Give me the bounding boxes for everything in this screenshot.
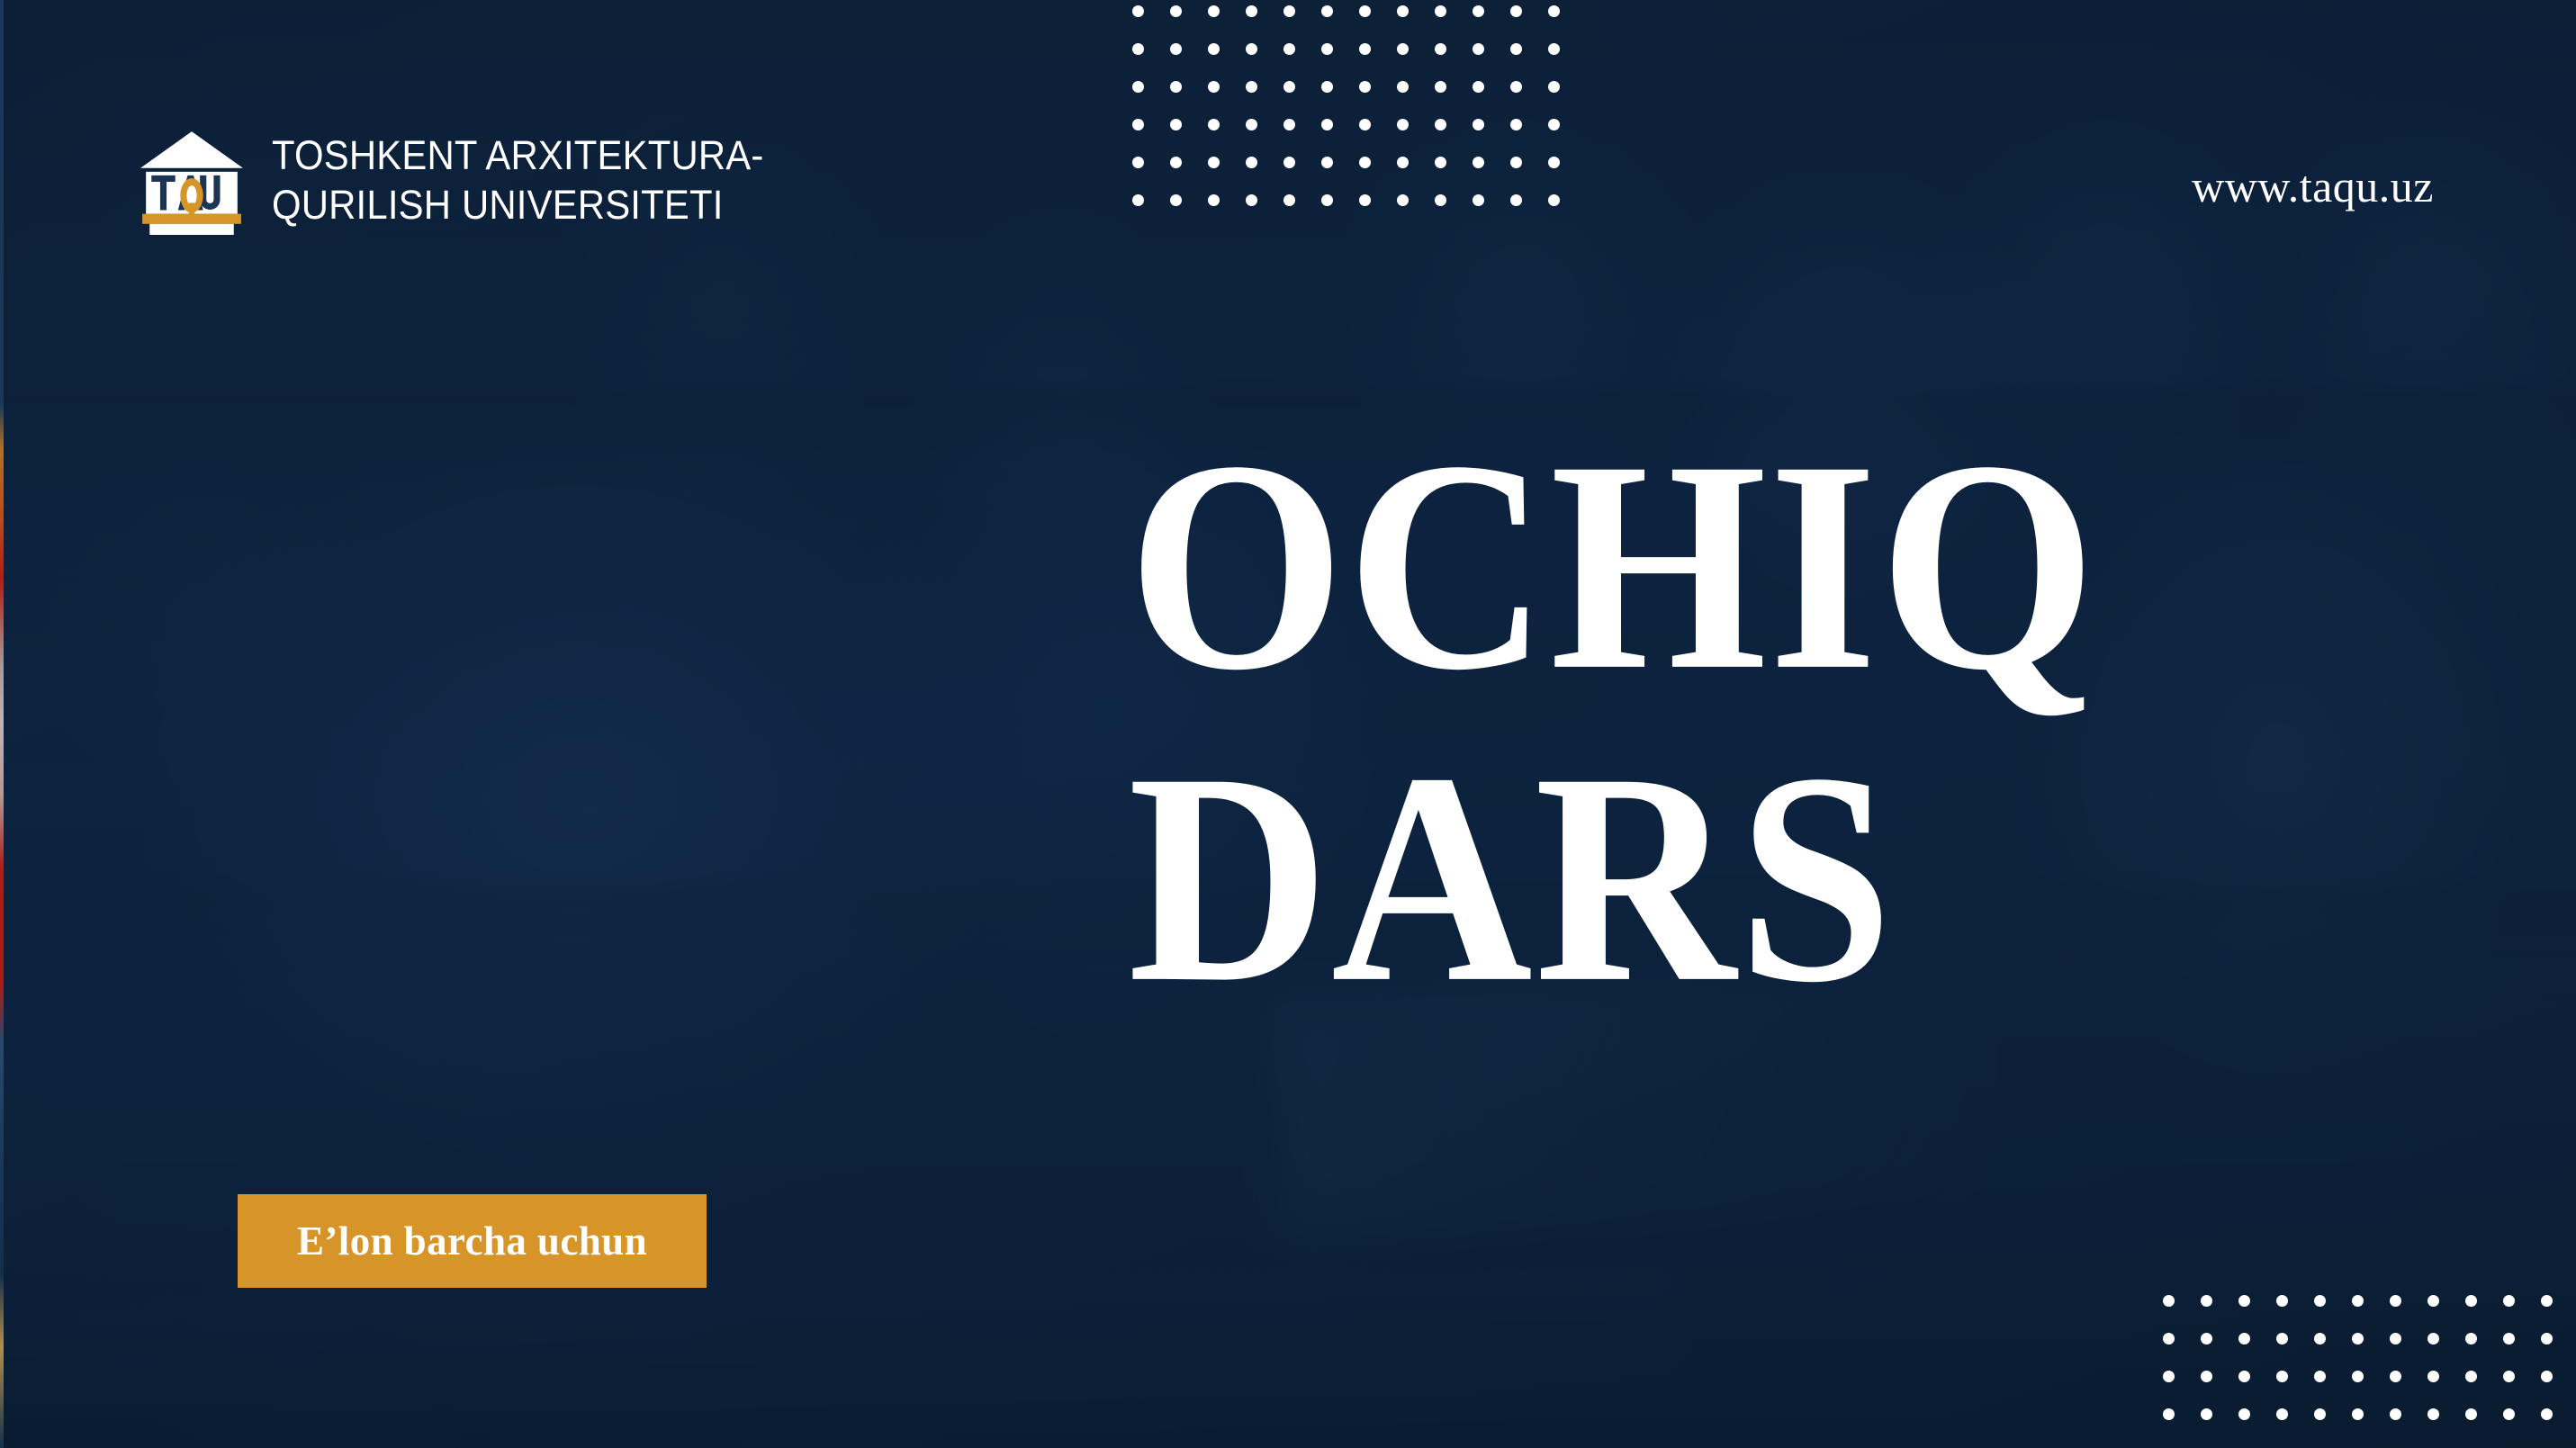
- decorative-dot: [2465, 1408, 2477, 1420]
- decorative-dot: [1473, 5, 1484, 17]
- decorative-dot: [1208, 81, 1220, 93]
- decorative-dot: [2352, 1371, 2364, 1382]
- decorative-dot: [1132, 5, 1144, 17]
- decorative-dot: [1435, 43, 1446, 55]
- decorative-dot: [2541, 1333, 2553, 1345]
- announcement-button[interactable]: E’lon barcha uchun: [238, 1194, 707, 1288]
- decorative-dot: [1246, 43, 1257, 55]
- title-line-1: OCHIQ: [1128, 425, 2098, 708]
- decorative-dot: [1208, 5, 1220, 17]
- decorative-dot: [1510, 5, 1522, 17]
- decorative-dot: [1321, 5, 1333, 17]
- decorative-dot: [1397, 81, 1409, 93]
- decorative-dot: [1510, 119, 1522, 130]
- decorative-dot: [2314, 1333, 2326, 1345]
- decorative-dot: [1208, 119, 1220, 130]
- decorative-dot: [2352, 1333, 2364, 1345]
- decorative-dot: [1359, 5, 1371, 17]
- decorative-dot: [1435, 5, 1446, 17]
- decorative-dot: [2541, 1295, 2553, 1307]
- decorative-dot: [1397, 194, 1409, 206]
- decorative-dot: [1473, 194, 1484, 206]
- decorative-dot: [1510, 43, 1522, 55]
- brand-name: TOSHKENT ARXITEKTURA- QURILISH UNIVERSIT…: [272, 131, 764, 230]
- decorative-dot: [2465, 1371, 2477, 1382]
- decorative-dot: [1510, 81, 1522, 93]
- decorative-dot: [2503, 1333, 2515, 1345]
- decorative-dot: [2163, 1408, 2175, 1420]
- decorative-dot: [1359, 119, 1371, 130]
- decorative-dot: [2201, 1333, 2212, 1345]
- decorative-dot: [1283, 81, 1295, 93]
- decorative-dot: [1435, 194, 1446, 206]
- decorative-dot: [1548, 157, 1560, 168]
- decorative-dot: [1132, 119, 1144, 130]
- decorative-dot: [1548, 81, 1560, 93]
- decorative-dot: [1397, 43, 1409, 55]
- website-url[interactable]: www.taqu.uz: [2192, 160, 2434, 212]
- decorative-dot: [2276, 1371, 2288, 1382]
- decorative-dot: [1435, 157, 1446, 168]
- decorative-dot: [2390, 1295, 2401, 1307]
- decorative-dot: [1132, 194, 1144, 206]
- decorative-dot: [2352, 1408, 2364, 1420]
- decorative-dot: [1208, 194, 1220, 206]
- announcement-button-label: E’lon barcha uchun: [297, 1218, 647, 1264]
- decorative-dot: [1359, 43, 1371, 55]
- decorative-dot: [1208, 43, 1220, 55]
- decorative-dot: [2238, 1295, 2250, 1307]
- decorative-dot: [1283, 194, 1295, 206]
- decorative-dot: [2503, 1371, 2515, 1382]
- decorative-dot: [1246, 81, 1257, 93]
- decorative-dot: [1473, 81, 1484, 93]
- decorative-dot: [2427, 1295, 2439, 1307]
- decorative-dot: [1397, 5, 1409, 17]
- decorative-dot: [1132, 81, 1144, 93]
- decorative-dot: [2465, 1295, 2477, 1307]
- decorative-dot: [2541, 1408, 2553, 1420]
- decorative-dot: [1170, 5, 1182, 17]
- decorative-dot: [1548, 43, 1560, 55]
- decorative-dot: [1359, 157, 1371, 168]
- decorative-dot: [1321, 157, 1333, 168]
- decorative-dot: [2276, 1408, 2288, 1420]
- decorative-dot: [1321, 119, 1333, 130]
- decorative-dot: [2314, 1408, 2326, 1420]
- decorative-dot: [1170, 81, 1182, 93]
- decorative-dot: [2390, 1371, 2401, 1382]
- taqu-building-logo-icon: [137, 126, 247, 236]
- page-title: OCHIQ DARS: [1128, 425, 2098, 1000]
- poster-canvas: TOSHKENT ARXITEKTURA- QURILISH UNIVERSIT…: [0, 0, 2576, 1448]
- decorative-dot: [2390, 1333, 2401, 1345]
- decorative-dot: [2541, 1371, 2553, 1382]
- decorative-dot: [2503, 1408, 2515, 1420]
- decorative-dot: [2427, 1371, 2439, 1382]
- decorative-dot: [2427, 1408, 2439, 1420]
- decorative-dot: [1359, 81, 1371, 93]
- decorative-dot: [2201, 1408, 2212, 1420]
- dot-grid-top: [1132, 5, 1586, 232]
- decorative-dot: [2427, 1333, 2439, 1345]
- decorative-dot: [1170, 194, 1182, 206]
- decorative-dot: [1397, 119, 1409, 130]
- decorative-dot: [1208, 157, 1220, 168]
- decorative-dot: [1548, 5, 1560, 17]
- decorative-dot: [2238, 1408, 2250, 1420]
- decorative-dot: [1473, 119, 1484, 130]
- decorative-dot: [1321, 194, 1333, 206]
- decorative-dot: [1170, 43, 1182, 55]
- decorative-dot: [2201, 1371, 2212, 1382]
- decorative-dot: [2201, 1295, 2212, 1307]
- decorative-dot: [2276, 1295, 2288, 1307]
- decorative-dot: [1283, 5, 1295, 17]
- decorative-dot: [1397, 157, 1409, 168]
- decorative-dot: [2352, 1295, 2364, 1307]
- decorative-dot: [1132, 43, 1144, 55]
- decorative-dot: [1283, 43, 1295, 55]
- decorative-dot: [1170, 157, 1182, 168]
- decorative-dot: [1359, 194, 1371, 206]
- decorative-dot: [1548, 119, 1560, 130]
- decorative-dot: [1283, 119, 1295, 130]
- decorative-dot: [2238, 1371, 2250, 1382]
- decorative-dot: [1473, 43, 1484, 55]
- decorative-dot: [2314, 1371, 2326, 1382]
- title-line-2: DARS: [1128, 737, 2098, 1021]
- decorative-dot: [1321, 81, 1333, 93]
- brand-lockup: TOSHKENT ARXITEKTURA- QURILISH UNIVERSIT…: [137, 126, 801, 236]
- decorative-dot: [2163, 1333, 2175, 1345]
- decorative-dot: [1170, 119, 1182, 130]
- decorative-dot: [1246, 157, 1257, 168]
- dot-grid-bottom: [2163, 1295, 2576, 1446]
- decorative-dot: [1246, 119, 1257, 130]
- decorative-dot: [1435, 81, 1446, 93]
- left-edge-photo-sliver: [0, 0, 4, 1448]
- decorative-dot: [1132, 157, 1144, 168]
- decorative-dot: [1321, 43, 1333, 55]
- decorative-dot: [2238, 1333, 2250, 1345]
- decorative-dot: [1473, 157, 1484, 168]
- decorative-dot: [1548, 194, 1560, 206]
- decorative-dot: [1283, 157, 1295, 168]
- decorative-dot: [2314, 1295, 2326, 1307]
- decorative-dot: [2276, 1333, 2288, 1345]
- decorative-dot: [1510, 194, 1522, 206]
- decorative-dot: [1435, 119, 1446, 130]
- decorative-dot: [2163, 1371, 2175, 1382]
- decorative-dot: [1510, 157, 1522, 168]
- decorative-dot: [1246, 194, 1257, 206]
- decorative-dot: [2390, 1408, 2401, 1420]
- decorative-dot: [2503, 1295, 2515, 1307]
- decorative-dot: [2465, 1333, 2477, 1345]
- decorative-dot: [1246, 5, 1257, 17]
- decorative-dot: [2163, 1295, 2175, 1307]
